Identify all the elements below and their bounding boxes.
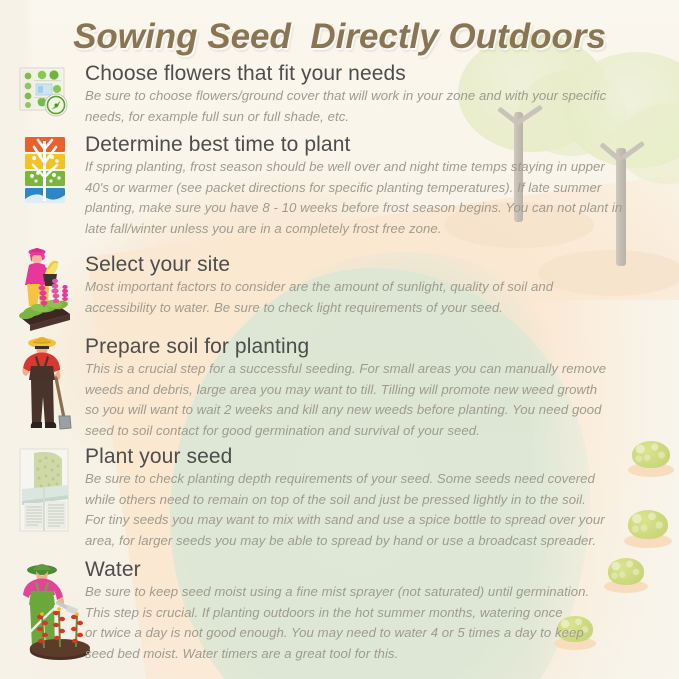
step-4-text: This is a crucial step for a successful … bbox=[85, 359, 673, 441]
four-seasons-tree-icon bbox=[12, 133, 76, 214]
step-5-heading: Plant your seed bbox=[85, 445, 673, 469]
step-6-heading: Water bbox=[85, 558, 673, 582]
step-5-text: Be sure to check planting depth requirem… bbox=[85, 469, 673, 551]
seed-packet-icon bbox=[12, 445, 76, 542]
step-5-body: Plant your seed Be sure to check plantin… bbox=[85, 445, 673, 551]
step-1-text: Be sure to choose flowers/ground cover t… bbox=[85, 86, 673, 127]
page-title: Sowing Seed Directly Outdoors bbox=[0, 17, 679, 57]
step-3-text: Most important factors to consider are t… bbox=[85, 277, 673, 318]
step-4-body: Prepare soil for planting This is a cruc… bbox=[85, 335, 673, 441]
step-4-heading: Prepare soil for planting bbox=[85, 335, 673, 359]
step-6-text: Be sure to keep seed moist using a fine … bbox=[85, 582, 673, 664]
gardener-with-flower-bed-icon bbox=[12, 243, 76, 336]
infographic-poster: Sowing Seed Directly Outdoors bbox=[0, 0, 679, 679]
step-6-body: Water Be sure to keep seed moist using a… bbox=[85, 558, 673, 664]
poster-content: Sowing Seed Directly Outdoors bbox=[0, 0, 679, 679]
gardener-with-shovel-icon bbox=[12, 330, 76, 435]
step-3-body: Select your site Most important factors … bbox=[85, 253, 673, 318]
step-3-heading: Select your site bbox=[85, 253, 673, 277]
step-2-body: Determine best time to plant If spring p… bbox=[85, 133, 673, 239]
step-1-body: Choose flowers that fit your needs Be su… bbox=[85, 62, 673, 127]
gardener-watering-icon bbox=[12, 553, 92, 668]
step-2-text: If spring planting, frost season should … bbox=[85, 157, 673, 239]
garden-plan-compass-icon bbox=[12, 62, 76, 129]
step-2-heading: Determine best time to plant bbox=[85, 133, 673, 157]
step-1-heading: Choose flowers that fit your needs bbox=[85, 62, 673, 86]
